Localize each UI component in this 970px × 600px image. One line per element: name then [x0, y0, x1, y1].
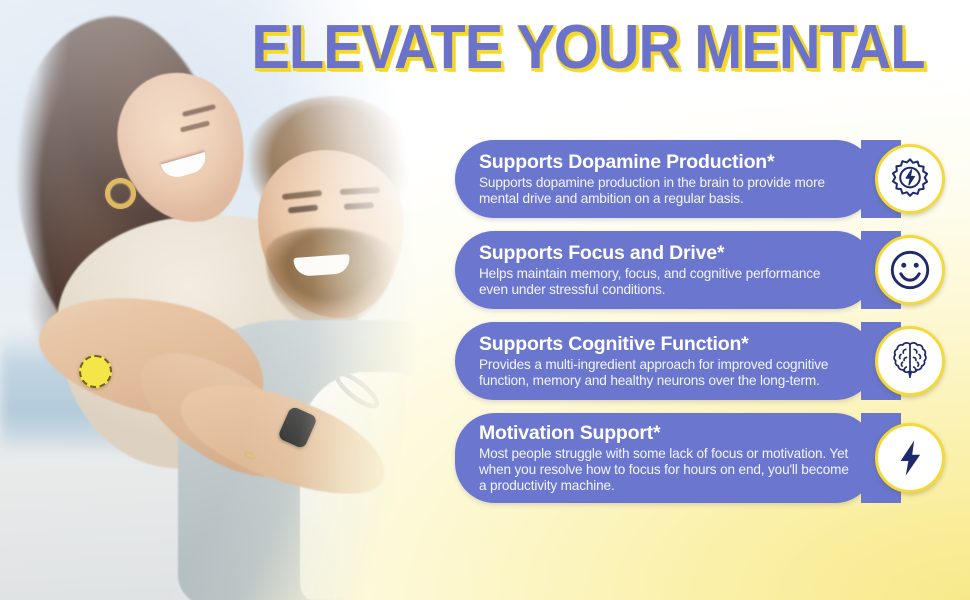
- gear-bolt-icon: [875, 144, 945, 214]
- wellness-patch-icon: [79, 355, 112, 388]
- feature-card-motivation[interactable]: Motivation Support* Most people struggle…: [455, 413, 955, 503]
- feature-body: Provides a multi-ingredient approach for…: [479, 357, 849, 389]
- smiley-face-icon: [875, 235, 945, 305]
- feature-title: Supports Focus and Drive*: [479, 242, 849, 265]
- page-title: ELEVATE YOUR MENTAL: [244, 17, 932, 79]
- feature-card-focus[interactable]: Supports Focus and Drive* Helps maintain…: [455, 231, 955, 309]
- lightning-bolt-icon: [875, 423, 945, 493]
- feature-title: Supports Cognitive Function*: [479, 333, 849, 356]
- photo-canvas: [0, 0, 470, 600]
- feature-list: Supports Dopamine Production* Supports d…: [455, 140, 955, 516]
- feature-body: Supports dopamine production in the brai…: [479, 175, 849, 207]
- promo-banner: ELEVATE YOUR MENTAL Supports Dopamine Pr…: [0, 0, 970, 600]
- feature-pill: Supports Focus and Drive* Helps maintain…: [455, 231, 875, 309]
- feature-pill: Motivation Support* Most people struggle…: [455, 413, 875, 503]
- feature-title: Motivation Support*: [479, 422, 849, 445]
- feature-body: Helps maintain memory, focus, and cognit…: [479, 266, 849, 298]
- lifestyle-photo: [0, 0, 470, 600]
- feature-pill: Supports Cognitive Function* Provides a …: [455, 322, 875, 400]
- brain-icon: [875, 326, 945, 396]
- feature-title: Supports Dopamine Production*: [479, 151, 849, 174]
- feature-card-dopamine[interactable]: Supports Dopamine Production* Supports d…: [455, 140, 955, 218]
- feature-card-cognitive[interactable]: Supports Cognitive Function* Provides a …: [455, 322, 955, 400]
- feature-pill: Supports Dopamine Production* Supports d…: [455, 140, 875, 218]
- feature-body: Most people struggle with some lack of f…: [479, 446, 849, 493]
